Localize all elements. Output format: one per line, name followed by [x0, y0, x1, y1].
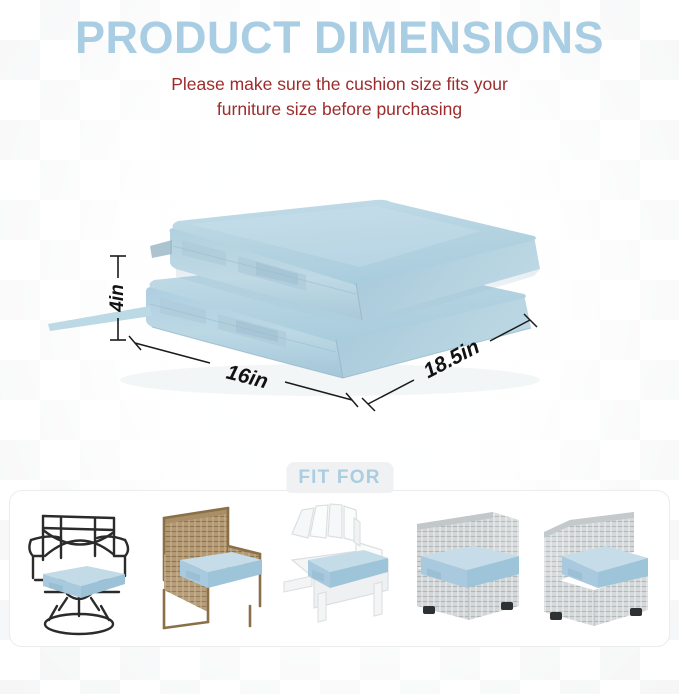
chair-back-slats — [292, 504, 358, 542]
fit-item-gray-wicker-corner-sofa[interactable] — [536, 494, 658, 640]
fit-item-black-metal-swivel-chair[interactable] — [21, 494, 143, 640]
header: PRODUCT DIMENSIONS Please make sure the … — [0, 0, 679, 122]
subtitle-line-1: Please make sure the cushion size fits y… — [0, 72, 679, 97]
cushion-tie-strap — [48, 306, 152, 331]
page-subtitle: Please make sure the cushion size fits y… — [0, 72, 679, 123]
fit-for-panel — [9, 490, 670, 647]
page-title: PRODUCT DIMENSIONS — [0, 14, 679, 63]
cushion-stack-illustration: 4in 16in 18.5in — [0, 128, 679, 458]
product-dimension-diagram: 4in 16in 18.5in — [0, 128, 679, 458]
fit-item-brown-wicker-dining-chair[interactable] — [150, 494, 272, 640]
fit-item-white-adirondack-chair[interactable] — [278, 494, 400, 640]
dimension-thickness-label: 4in — [107, 285, 128, 313]
fit-item-gray-wicker-armless-sofa[interactable] — [407, 494, 529, 640]
cushion-tag — [150, 240, 172, 258]
subtitle-line-2: furniture size before purchasing — [0, 97, 679, 122]
fit-for-badge: FIT FOR — [286, 462, 393, 493]
fit-for-section: FIT FOR — [0, 462, 679, 652]
cushion-on-furniture — [43, 566, 125, 598]
fit-for-label: FIT FOR — [298, 467, 380, 489]
